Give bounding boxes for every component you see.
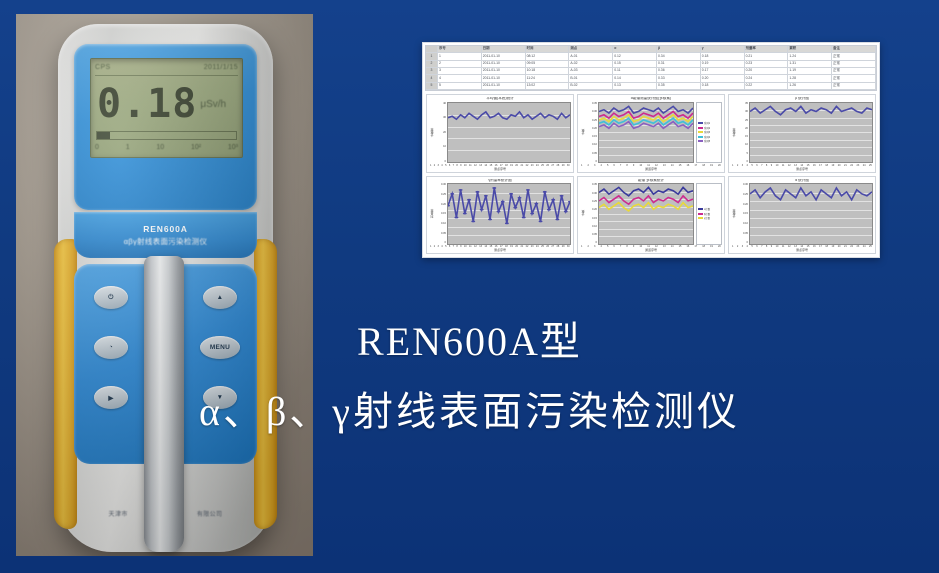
chart-data-point [467, 199, 471, 201]
chart-y-tick: 10 [745, 143, 748, 146]
spreadsheet-cell[interactable]: 2011-01-10 [482, 68, 526, 75]
chart-legend-item: β计数 [698, 212, 720, 216]
spreadsheet-row-index: 3 [426, 68, 438, 75]
chart-y-tick: 0.20 [592, 127, 597, 130]
spreadsheet-cell[interactable]: 0.20 [701, 75, 745, 82]
chart-y-tick: 0 [747, 160, 748, 163]
chart-y-tick: 0.15 [743, 212, 748, 215]
spreadsheet-cell[interactable]: 正常 [832, 83, 876, 90]
chart-legend: 系列1系列2系列3系列4系列5 [696, 102, 722, 163]
spreadsheet-cell[interactable]: 0.24 [745, 75, 789, 82]
chart-y-tick: 0.15 [592, 135, 597, 138]
chart-body: 计数率0.300.250.200.150.100.050 [731, 183, 873, 244]
spreadsheet-row-index: 5 [426, 83, 438, 90]
spreadsheet-cell[interactable]: 0.15 [613, 61, 657, 68]
chart-x-axis-label: 测点序号 [731, 248, 873, 252]
spreadsheet-corner [426, 46, 438, 53]
lcd-value: 0.18 [97, 84, 197, 124]
spreadsheet-row[interactable]: 112011-01-1008:12A-010.120.340.180.211.2… [426, 53, 876, 60]
spreadsheet-cell[interactable]: 正常 [832, 61, 876, 68]
device-footer-text: 天津市 有限公司 [74, 509, 257, 518]
chart-y-tick: 0.35 [592, 102, 597, 105]
lcd-scale-tick: 0 [95, 144, 99, 151]
lcd-scale-tick: 10² [191, 144, 201, 151]
chart-data-point [480, 209, 484, 211]
device-display-bezel: CPS 2011/1/15 0.18 μSv/h 011010²10³ [74, 44, 257, 210]
chart-y-tick: 0.05 [743, 232, 748, 235]
page-title: REN600A型 [0, 320, 939, 364]
spreadsheet-cell[interactable]: 0.36 [657, 68, 701, 75]
chart-series-line [599, 196, 693, 204]
chart-y-tick: 0.25 [743, 193, 748, 196]
chart-legend-label: 系列4 [704, 135, 710, 139]
chart-data-point [560, 195, 564, 197]
device-label-plate: REN600A αβγ射线表面污染检测仪 [74, 212, 257, 258]
chart-y-tick: 0.30 [743, 183, 748, 186]
chart-series-svg [448, 184, 570, 243]
chart-card[interactable]: β 统计图计数率35302520151050123456789101112131… [728, 94, 876, 173]
spreadsheet-cell[interactable]: 2011-01-10 [482, 53, 526, 60]
chart-data-point [509, 193, 513, 195]
chart-body: 计数率403020100 [429, 102, 571, 163]
spreadsheet-cell[interactable]: 0.21 [745, 53, 789, 60]
chart-legend-label: 系列1 [704, 121, 710, 125]
chart-legend-item: 系列3 [698, 130, 720, 134]
spreadsheet-cell[interactable]: 11:24 [526, 75, 570, 82]
chart-legend-label: 系列2 [704, 126, 710, 130]
chart-body: 计数率35302520151050 [731, 102, 873, 163]
spreadsheet-row-index: 4 [426, 75, 438, 82]
chart-plot-area [749, 183, 873, 244]
spreadsheet-header-cell: 剂量率 [745, 46, 789, 53]
chart-y-tick: 0.10 [743, 222, 748, 225]
chart-y-tick: 0 [445, 160, 446, 163]
chart-plot-wrap: 系列1系列2系列3系列4系列5 [598, 102, 722, 163]
chart-data-point [501, 201, 505, 203]
chart-title: β 统计图 [731, 97, 873, 101]
chart-y-ticks: 403020100 [435, 102, 447, 163]
spreadsheet-header-cell: 备注 [832, 46, 876, 53]
chart-y-tick: 30 [745, 110, 748, 113]
chart-legend-item: γ计数 [698, 216, 720, 220]
up-button[interactable]: ▲ [203, 286, 237, 309]
chevron-up-icon: ▲ [217, 294, 224, 301]
chart-y-tick: 0.25 [441, 193, 446, 196]
chart-y-tick: 0.20 [743, 203, 748, 206]
chart-y-tick: 0.30 [592, 110, 597, 113]
chart-title: 能谱 多核素统计 [580, 179, 722, 183]
chart-y-tick: 15 [745, 135, 748, 138]
spreadsheet-cell[interactable]: A-01 [569, 53, 613, 60]
chart-data-point [564, 211, 568, 213]
chart-legend-item: 系列5 [698, 139, 720, 143]
chart-plot-wrap [447, 102, 571, 163]
spreadsheet-cell[interactable]: 0.18 [701, 83, 745, 90]
spreadsheet-cell[interactable]: 2011-01-10 [482, 61, 526, 68]
chart-data-point [448, 205, 450, 207]
lcd-status-left: CPS [95, 64, 111, 71]
spreadsheet-header-cell: γ [701, 46, 745, 53]
spreadsheet-cell[interactable]: 3 [438, 68, 482, 75]
chart-x-axis-label: 测点序号 [731, 167, 873, 171]
chart-y-tick: 0.10 [592, 225, 597, 228]
chart-legend-label: β计数 [704, 212, 710, 216]
chart-plot-area [598, 102, 694, 163]
chart-y-tick: 0.30 [441, 183, 446, 186]
spreadsheet-cell[interactable]: 08:12 [526, 53, 570, 60]
spreadsheet-header-cell: 序号 [438, 46, 482, 53]
spreadsheet-cell[interactable]: 0.31 [657, 61, 701, 68]
spreadsheet-cell[interactable]: 2011-01-10 [482, 75, 526, 82]
chart-legend-swatch [698, 208, 703, 210]
chart-plot-wrap [447, 183, 571, 244]
chart-data-point [497, 211, 501, 213]
spreadsheet-cell[interactable]: 4 [438, 75, 482, 82]
chart-y-tick: 0.25 [592, 119, 597, 122]
spreadsheet-row[interactable]: 552011-01-1013:02B-020.130.350.180.221.2… [426, 83, 876, 90]
chart-legend-swatch [698, 217, 703, 219]
power-icon: ⏻ [108, 294, 113, 302]
chart-legend-swatch [698, 131, 703, 133]
spreadsheet-cell[interactable]: 正常 [832, 75, 876, 82]
chart-y-tick: 0.10 [592, 143, 597, 146]
chart-body: 计数0.350.300.250.200.150.100.050系列1系列2系列3… [580, 102, 722, 163]
chart-y-tick: 20 [745, 127, 748, 130]
spreadsheet-header-cell: 测点 [569, 46, 613, 53]
chart-x-axis-label: 通道序号 [580, 248, 722, 252]
lcd-scale-tick: 10³ [228, 144, 238, 151]
chart-y-tick: 20 [443, 131, 446, 134]
chart-data-point [522, 217, 526, 219]
chart-series-svg [599, 103, 693, 162]
chart-y-ticks: 0.350.300.250.200.150.100.050 [586, 183, 598, 244]
spreadsheet-row[interactable]: 442011-01-1011:24B-010.140.330.200.241.2… [426, 75, 876, 82]
spreadsheet-cell[interactable]: 1 [438, 53, 482, 60]
chart-y-tick: 5 [747, 152, 748, 155]
chart-data-point [450, 193, 454, 195]
chart-legend: α计数β计数γ计数 [696, 183, 722, 244]
chart-y-tick: 0 [596, 241, 597, 244]
spreadsheet-row[interactable]: 332011-01-1010:18A-030.110.360.170.201.1… [426, 68, 876, 75]
product-photo: CPS 2011/1/15 0.18 μSv/h 011010²10³ REN6… [16, 14, 313, 556]
chart-y-tick: 0.30 [592, 192, 597, 195]
spreadsheet-cell[interactable]: 0.23 [745, 61, 789, 68]
spreadsheet-cell[interactable]: 1.19 [788, 68, 832, 75]
chart-series-svg [750, 184, 872, 243]
chart-body: 计数0.350.300.250.200.150.100.050α计数β计数γ计数 [580, 183, 722, 244]
chart-data-point [471, 221, 475, 223]
chart-data-point [568, 201, 570, 203]
spreadsheet-header-cell: 累积 [788, 46, 832, 53]
spreadsheet-row-index: 2 [426, 61, 438, 68]
chart-series-svg [750, 103, 872, 162]
chart-data-point [488, 219, 492, 221]
chart-y-tick: 0.15 [441, 212, 446, 215]
spreadsheet-cell[interactable]: 0.33 [657, 75, 701, 82]
spreadsheet-cell[interactable]: A-03 [569, 68, 613, 75]
chart-series-svg [448, 103, 570, 162]
chart-data-point [555, 219, 559, 221]
device-footer-right: 有限公司 [197, 509, 223, 518]
spreadsheet-cell[interactable]: 0.13 [613, 83, 657, 90]
spreadsheet-header-cell: β [657, 46, 701, 53]
chart-legend-label: α计数 [704, 207, 710, 211]
chart-legend-swatch [698, 140, 703, 142]
chart-y-tick: 0.10 [441, 222, 446, 225]
chart-plot-wrap [749, 102, 873, 163]
chart-y-tick: 0.05 [592, 233, 597, 236]
chart-series-line [599, 106, 693, 113]
chart-body: 剂量率0.300.250.200.150.100.050 [429, 183, 571, 244]
chart-title: 平均值(本底)统计 [429, 97, 571, 101]
chart-card[interactable]: 能谱 多核素统计计数0.350.300.250.200.150.100.050α… [577, 176, 725, 255]
lcd-scale-tick: 10 [156, 144, 164, 151]
chart-y-tick: 0.25 [592, 200, 597, 203]
spreadsheet-cell[interactable]: 0.19 [701, 61, 745, 68]
chart-legend-swatch [698, 127, 703, 129]
spreadsheet-cell[interactable]: 2011-01-10 [482, 83, 526, 90]
chart-y-ticks: 35302520151050 [737, 102, 749, 163]
spreadsheet-cell[interactable]: 0.11 [613, 68, 657, 75]
chart-card[interactable]: α能谱测量统计图(多核素)计数0.350.300.250.200.150.100… [577, 94, 725, 173]
lcd-divider [95, 75, 238, 76]
chart-data-point [551, 199, 555, 201]
chart-legend-swatch [698, 213, 703, 215]
chart-y-tick: 40 [443, 102, 446, 105]
chart-data-point [513, 207, 517, 209]
lcd-scale-tick: 1 [126, 144, 130, 151]
spreadsheet-header-row: 序号日期时间测点αβγ剂量率累积备注 [426, 46, 876, 53]
spreadsheet-header-cell: α [613, 46, 657, 53]
chart-plot-area [447, 102, 571, 163]
spreadsheet-cell[interactable]: 0.22 [745, 83, 789, 90]
spreadsheet-cell[interactable]: 1.28 [788, 75, 832, 82]
chart-plot-wrap: α计数β计数γ计数 [598, 183, 722, 244]
device-footer-left: 天津市 [109, 509, 128, 518]
chart-data-point [530, 213, 534, 215]
chart-data-point [505, 223, 509, 225]
chart-series-line [599, 188, 693, 196]
chart-data-point [539, 221, 543, 223]
lcd-screen: CPS 2011/1/15 0.18 μSv/h 011010²10³ [90, 58, 243, 158]
lcd-scale-ticks: 011010²10³ [95, 141, 238, 153]
chart-title: α能谱测量统计图(多核素) [580, 97, 722, 101]
chart-x-axis-label: 测点序号 [429, 248, 571, 252]
chart-data-point [484, 195, 488, 197]
chart-plot-area [749, 102, 873, 163]
chart-legend-label: γ计数 [704, 216, 710, 220]
chart-series-line [599, 203, 693, 211]
lcd-bargraph-fill [97, 132, 110, 139]
chart-legend-item: 系列1 [698, 121, 720, 125]
chart-card[interactable]: 平均值(本底)统计计数率4030201001234567891011121314… [426, 94, 574, 173]
spreadsheet-cell[interactable]: 0.20 [745, 68, 789, 75]
chart-series-line [750, 106, 872, 114]
spreadsheet-header-cell: 时间 [526, 46, 570, 53]
spreadsheet-cell[interactable]: 0.18 [701, 53, 745, 60]
spreadsheet-cell[interactable]: 1.31 [788, 61, 832, 68]
chart-data-point [526, 189, 530, 191]
device-model-sublabel: αβγ射线表面污染检测仪 [124, 236, 208, 247]
chart-legend-label: 系列5 [704, 139, 710, 143]
slide-root: CPS 2011/1/15 0.18 μSv/h 011010²10³ REN6… [0, 0, 939, 573]
chart-legend-swatch [698, 136, 703, 138]
chart-y-tick: 25 [745, 119, 748, 122]
power-button[interactable]: ⏻ [94, 286, 128, 309]
lcd-status-right: 2011/1/15 [204, 64, 238, 71]
chart-data-point [459, 189, 463, 191]
chart-y-tick: 30 [443, 116, 446, 119]
chart-card[interactable]: α 统计图计数率0.300.250.200.150.100.0501234567… [728, 176, 876, 255]
spreadsheet-cell[interactable]: 0.35 [657, 83, 701, 90]
spreadsheet-cell[interactable]: 正常 [832, 53, 876, 60]
spreadsheet-cell[interactable]: 0.17 [701, 68, 745, 75]
chart-y-tick: 35 [745, 102, 748, 105]
chart-data-point [492, 187, 496, 189]
chart-grid: 平均值(本底)统计计数率4030201001234567891011121314… [425, 91, 877, 255]
spreadsheet-row[interactable]: 222011-01-1009:05A-020.150.310.190.231.3… [426, 61, 876, 68]
device-model-label: REN600A [143, 224, 188, 234]
chart-legend-label: 系列3 [704, 130, 710, 134]
lcd-reading: 0.18 μSv/h [97, 79, 238, 129]
chart-x-axis-label: 通道序号 [580, 167, 722, 171]
chart-title: γ剂量率统计图 [429, 179, 571, 183]
software-screenshot-panel: 序号日期时间测点αβγ剂量率累积备注112011-01-1008:12A-010… [422, 42, 880, 258]
chart-data-point [518, 197, 522, 199]
lcd-status-bar: CPS 2011/1/15 [95, 61, 238, 74]
chart-x-axis-label: 测点序号 [429, 167, 571, 171]
spreadsheet-cell[interactable]: 10:18 [526, 68, 570, 75]
chart-y-ticks: 0.300.250.200.150.100.050 [737, 183, 749, 244]
chart-legend-swatch [698, 122, 703, 124]
chart-y-tick: 0.20 [592, 208, 597, 211]
chart-y-tick: 0.15 [592, 217, 597, 220]
chart-y-tick: 0.20 [441, 203, 446, 206]
chart-series-line [750, 188, 872, 200]
chart-data-point [543, 191, 547, 193]
chart-data-point [454, 217, 458, 219]
spreadsheet-cell[interactable]: 5 [438, 83, 482, 90]
chart-series-line [448, 112, 570, 119]
spreadsheet-cell[interactable]: A-02 [569, 61, 613, 68]
chart-data-point [534, 203, 538, 205]
spreadsheet-cell[interactable]: 0.34 [657, 53, 701, 60]
chart-series-svg [599, 184, 693, 243]
chart-y-tick: 0 [596, 160, 597, 163]
chart-legend-item: 系列2 [698, 126, 720, 130]
title-block: REN600A型 α、β、γ射线表面污染检测仪 [0, 320, 939, 434]
spreadsheet-cell[interactable]: 09:05 [526, 61, 570, 68]
chart-data-point [463, 213, 467, 215]
chart-y-ticks: 0.350.300.250.200.150.100.050 [586, 102, 598, 163]
chart-data-point [547, 209, 551, 211]
chart-y-tick: 0.05 [441, 232, 446, 235]
lcd-unit: μSv/h [200, 99, 226, 110]
chart-legend-item: 系列4 [698, 135, 720, 139]
chart-card[interactable]: γ剂量率统计图剂量率0.300.250.200.150.100.05012345… [426, 176, 574, 255]
chart-series-line [448, 188, 570, 223]
chart-y-tick: 0.05 [592, 152, 597, 155]
chart-y-tick: 10 [443, 145, 446, 148]
chart-data-point [475, 191, 479, 193]
data-spreadsheet: 序号日期时间测点αβγ剂量率累积备注112011-01-1008:12A-010… [425, 45, 877, 91]
spreadsheet-cell[interactable]: 0.12 [613, 53, 657, 60]
chart-title: α 统计图 [731, 179, 873, 183]
lcd-bargraph [96, 131, 237, 140]
chart-y-ticks: 0.300.250.200.150.100.050 [435, 183, 447, 244]
chart-legend-item: α计数 [698, 207, 720, 211]
spreadsheet-cell[interactable]: 13:02 [526, 83, 570, 90]
chart-plot-wrap [749, 183, 873, 244]
spreadsheet-cell[interactable]: 2 [438, 61, 482, 68]
spreadsheet-row-index: 1 [426, 53, 438, 60]
chart-y-tick: 0.35 [592, 183, 597, 186]
spreadsheet-header-cell: 日期 [482, 46, 526, 53]
chart-plot-area [598, 183, 694, 244]
spreadsheet-cell[interactable]: 1.26 [788, 83, 832, 90]
spreadsheet-cell[interactable]: 1.24 [788, 53, 832, 60]
chart-plot-area [447, 183, 571, 244]
device-body: CPS 2011/1/15 0.18 μSv/h 011010²10³ REN6… [58, 24, 273, 552]
page-subtitle: α、β、γ射线表面污染检测仪 [0, 390, 939, 434]
spreadsheet-cell[interactable]: B-02 [569, 83, 613, 90]
spreadsheet-cell[interactable]: B-01 [569, 75, 613, 82]
spreadsheet-cell[interactable]: 正常 [832, 68, 876, 75]
spreadsheet-cell[interactable]: 0.14 [613, 75, 657, 82]
